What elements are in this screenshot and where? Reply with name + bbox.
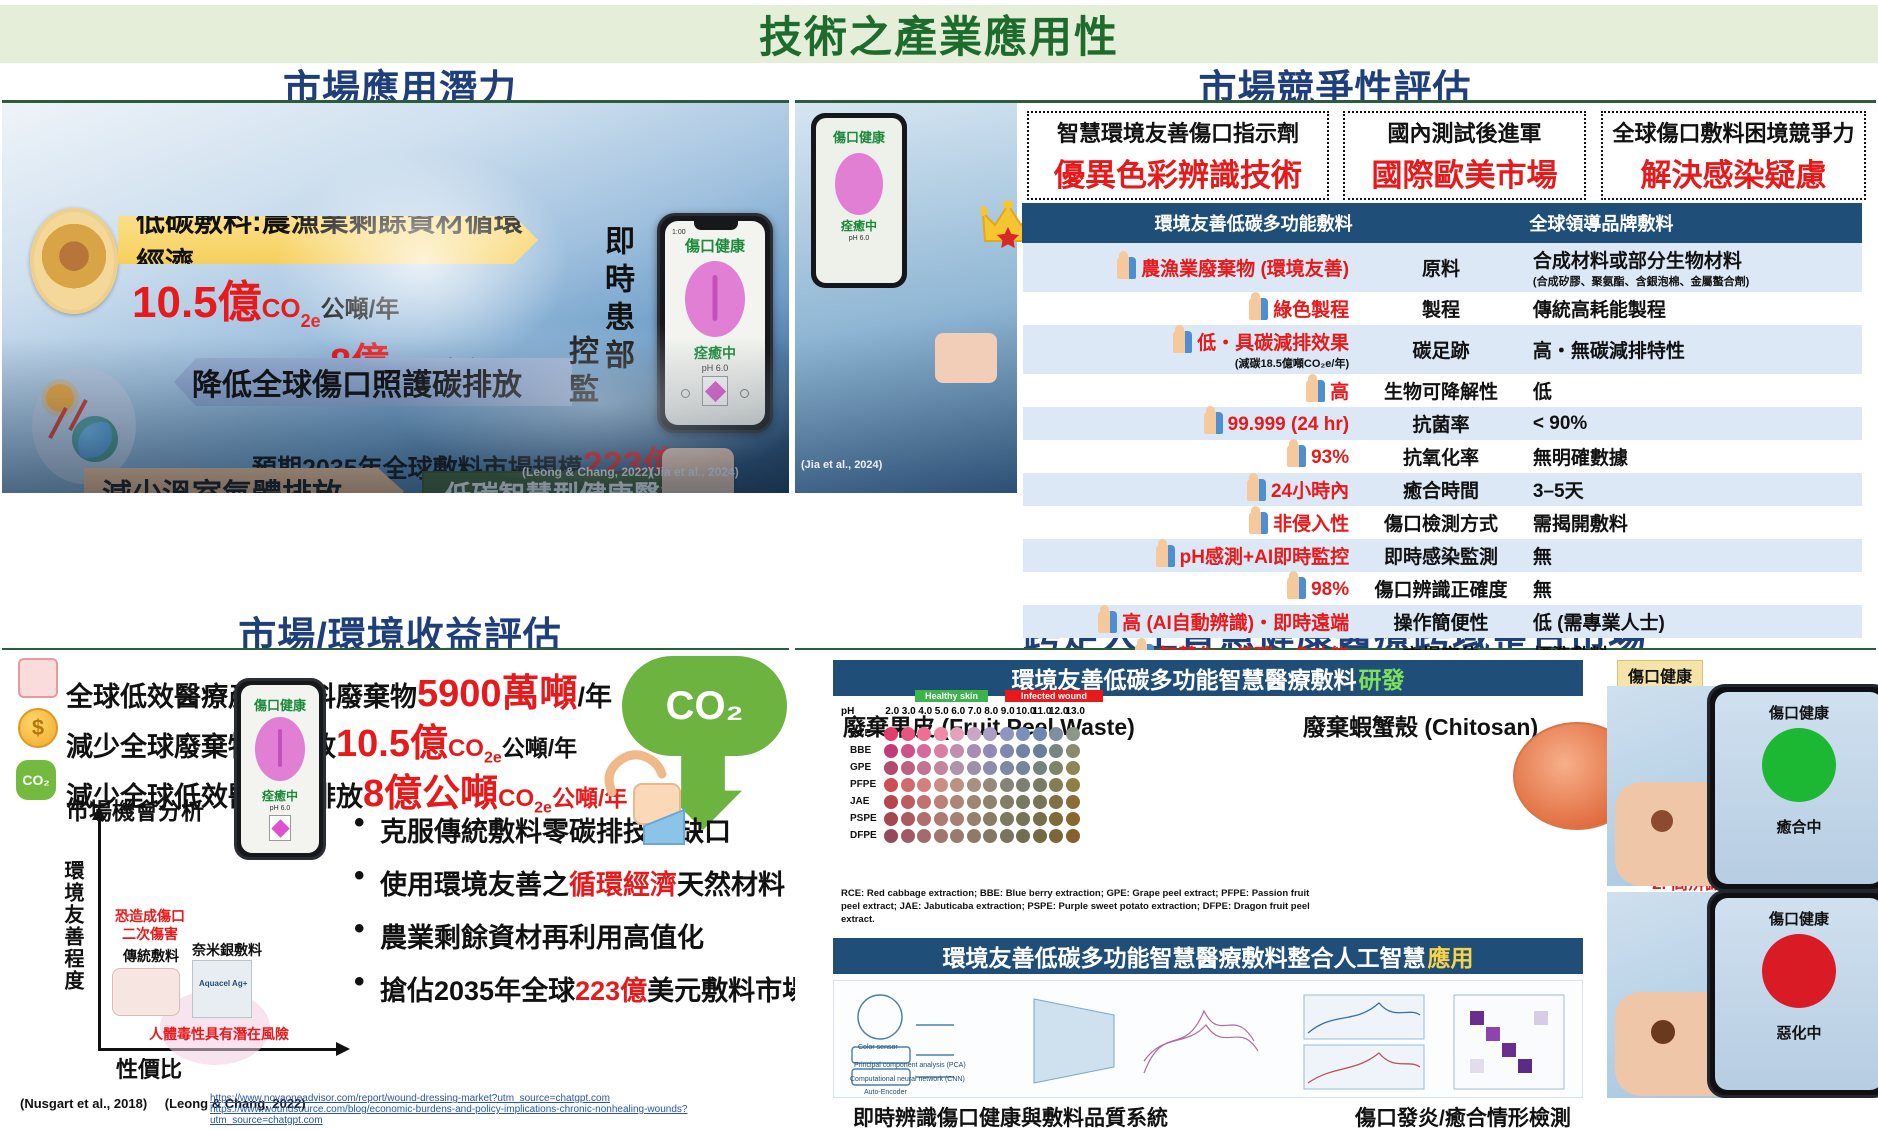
cell-ours: pH感測+AI即時監控 bbox=[1023, 539, 1358, 572]
cell-attribute: 操作簡便性 bbox=[1357, 605, 1525, 638]
th-them: 全球領導品牌敷料 bbox=[1525, 204, 1862, 243]
matrix-row: PFPE bbox=[850, 776, 1082, 793]
color-dot bbox=[901, 812, 915, 826]
wound-app-phone-small[interactable]: 傷口健康 痊癒中 pH 6.0 bbox=[234, 678, 326, 860]
ph-readout-small: pH 6.0 bbox=[241, 805, 319, 812]
status-circle-red bbox=[1762, 934, 1836, 1008]
cell-attribute: 抗菌率 bbox=[1357, 407, 1525, 440]
food-waste-bowl-icon bbox=[30, 208, 118, 314]
co2-icon: CO₂ bbox=[16, 760, 56, 800]
ph-tick: 4.0 bbox=[917, 706, 934, 717]
comparison-table: 環境友善低碳多功能敷料 全球領導品牌敷料 農漁業廢棄物 (環境友善)原料合成材料… bbox=[1022, 203, 1862, 671]
globe-icon bbox=[72, 416, 118, 462]
cell-competitor: 低 bbox=[1525, 374, 1862, 407]
thumbs-up-icon bbox=[1247, 479, 1266, 501]
kpi-card-infection: 全球傷口敷料困境競爭力 解決感染疑慮 bbox=[1601, 111, 1866, 200]
poster-root: 技術之產業應用性 市場應用潛力 市場競爭性評估 市場/環境收益評估 跨足人工智慧… bbox=[0, 0, 1878, 1125]
table-row: 低・具碳減排效果(減碳18.5億噸CO₂e/年)碳足跡高・無碳減排特性 bbox=[1023, 325, 1862, 374]
market-competition-panel: 傷口健康 痊癒中 pH 6.0 (Jia et al., 2024) 智慧環境友… bbox=[795, 103, 1876, 493]
matrix-row-label: JAE bbox=[850, 796, 884, 807]
benefit-line-1: 全球低效醫療產生敷料廢棄物5900萬噸/年 bbox=[66, 662, 612, 717]
color-dot bbox=[1066, 812, 1080, 826]
color-dot bbox=[1033, 761, 1047, 775]
color-dot bbox=[1000, 744, 1014, 758]
thumbs-up-icon bbox=[1204, 412, 1223, 434]
phone-screen: 1:00 傷口健康 痊癒中 pH 6.0 bbox=[665, 221, 765, 425]
color-dot bbox=[983, 727, 997, 741]
traditional-dressing-image bbox=[112, 968, 180, 1016]
color-dot bbox=[884, 778, 898, 792]
matrix-row: GPE bbox=[850, 759, 1082, 776]
cell-competitor: 3–5天 bbox=[1525, 473, 1862, 506]
color-dot bbox=[934, 761, 948, 775]
cell-attribute: 生物可降解性 bbox=[1357, 374, 1525, 407]
color-dot bbox=[934, 829, 948, 843]
color-dot bbox=[1016, 761, 1030, 775]
cell-ours: 農漁業廢棄物 (環境友善) bbox=[1023, 243, 1358, 293]
coin-icon: $ bbox=[18, 708, 58, 748]
color-dot bbox=[1066, 744, 1080, 758]
color-dot bbox=[1016, 744, 1030, 758]
cell-ours: 24小時內 bbox=[1023, 473, 1358, 506]
color-dot bbox=[950, 795, 964, 809]
wound-status-small: 痊癒中 bbox=[241, 787, 319, 804]
color-dot bbox=[1000, 778, 1014, 792]
cell-ours: 非侵入性 bbox=[1023, 506, 1358, 539]
chitosan-title: 廢棄蝦蟹殼 (Chitosan) bbox=[1303, 708, 1538, 742]
ref-url-2[interactable]: https://www.woundsource.com/blog/economi… bbox=[210, 1104, 789, 1126]
list-item: 搶佔2035年全球223億美元敷料市場 bbox=[354, 969, 784, 1008]
color-dot bbox=[967, 812, 981, 826]
svg-text:Principal component analysis (: Principal component analysis (PCA) bbox=[854, 1062, 966, 1069]
color-dot bbox=[1066, 778, 1080, 792]
annotation-toxicity-risk: 人體毒性具有潛在風險 bbox=[124, 1026, 314, 1044]
color-dot bbox=[1000, 829, 1014, 843]
annotation-nano-silver: 奈米銀敷料 bbox=[184, 940, 270, 960]
thumbnail-ph: pH 6.0 bbox=[811, 235, 907, 242]
color-dot bbox=[1033, 744, 1047, 758]
color-dot bbox=[950, 727, 964, 741]
phone-screen-worsening: 傷口健康 惡化中 bbox=[1715, 898, 1878, 1090]
color-dot bbox=[1000, 727, 1014, 741]
color-dot bbox=[884, 761, 898, 775]
cell-ours: 低・具碳減排效果(減碳18.5億噸CO₂e/年) bbox=[1023, 325, 1358, 374]
thumbs-up-icon bbox=[1287, 577, 1306, 599]
phone-title-worsening: 傷口健康 bbox=[1715, 908, 1878, 929]
color-dot bbox=[1066, 795, 1080, 809]
color-dot bbox=[983, 795, 997, 809]
table-row: 99.999 (24 hr)抗菌率< 90% bbox=[1023, 407, 1862, 440]
ai-pipeline-diagram: Color sensor Principal component analysi… bbox=[833, 980, 1583, 1098]
ph-axis-label: pH bbox=[841, 706, 854, 717]
ph-tick-labels: 2.03.04.05.06.07.08.09.010.011.012.013.0 bbox=[884, 706, 1082, 717]
phone-notch bbox=[694, 221, 738, 230]
list-item: 農業剩餘資材再利用高值化 bbox=[354, 916, 784, 955]
bandage-roll-icon bbox=[18, 658, 58, 698]
thumbnail-citation: (Jia et al., 2024) bbox=[801, 459, 882, 471]
nano-silver-dressing-image: Aquacel Ag+ bbox=[192, 960, 252, 1018]
thumbs-up-icon bbox=[1249, 512, 1268, 534]
cell-ours: 綠色製程 bbox=[1023, 292, 1358, 325]
cell-ours: 93% bbox=[1023, 440, 1358, 473]
color-dot bbox=[1049, 761, 1063, 775]
color-dot bbox=[884, 744, 898, 758]
color-dot bbox=[917, 778, 931, 792]
color-dot bbox=[917, 795, 931, 809]
matrix-row-label: DFPE bbox=[850, 830, 884, 841]
color-dot bbox=[983, 761, 997, 775]
wound-status: 痊癒中 bbox=[665, 343, 765, 363]
svg-text:Auto-Encoder: Auto-Encoder bbox=[864, 1089, 907, 1096]
color-dot bbox=[1000, 795, 1014, 809]
matrix-row: PSPE bbox=[850, 810, 1082, 827]
table-row: 綠色製程製程傳統高耗能製程 bbox=[1023, 292, 1862, 325]
app-title-small: 傷口健康 bbox=[241, 695, 319, 714]
citation-jia: (Jia et al., 2024) bbox=[650, 465, 739, 479]
color-dot bbox=[901, 744, 915, 758]
cell-competitor: 高・無碳減排特性 bbox=[1525, 325, 1862, 374]
svg-text:Color sensor: Color sensor bbox=[858, 1044, 898, 1051]
color-dot bbox=[967, 744, 981, 758]
color-dot bbox=[950, 829, 964, 843]
phone-worsening[interactable]: 傷口健康 惡化中 bbox=[1707, 890, 1878, 1098]
thumbnail-pad-icon bbox=[935, 333, 997, 383]
ph-tick: 5.0 bbox=[934, 706, 951, 717]
matrix-row-label: PFPE bbox=[850, 779, 884, 790]
color-dot bbox=[1049, 727, 1063, 741]
matrix-row: BBE bbox=[850, 742, 1082, 759]
thumbs-up-icon bbox=[1156, 545, 1175, 567]
ph-tick: 2.0 bbox=[884, 706, 901, 717]
wound-image-small bbox=[255, 717, 305, 781]
y-axis-label: 環境友善程度 bbox=[58, 860, 87, 992]
color-dot bbox=[934, 744, 948, 758]
ai-integration-panel: 環境友善低碳多功能智慧醫療敷料研發 廢棄果皮 (Fruit Peel Waste… bbox=[795, 650, 1876, 1123]
color-dot bbox=[884, 829, 898, 843]
ph-tick: 7.0 bbox=[967, 706, 984, 717]
citation-leong: (Leong & Chang, 2022) bbox=[522, 465, 652, 479]
color-dot bbox=[1049, 744, 1063, 758]
page-title: 技術之產業應用性 bbox=[759, 3, 1119, 65]
references: (Nusgart et al., 2018) (Leong & Chang, 2… bbox=[20, 1096, 789, 1126]
kpi-card-market: 國內測試後進軍 國際歐美市場 bbox=[1343, 111, 1586, 200]
status-circle-green bbox=[1762, 728, 1836, 802]
color-dot bbox=[901, 761, 915, 775]
cell-competitor: < 90% bbox=[1525, 407, 1862, 440]
ph-color-matrix: RCEBBEGPEPFPEJAEPSPEDFPE bbox=[850, 725, 1082, 844]
table-row: 農漁業廢棄物 (環境友善)原料合成材料或部分生物材料(合成矽膠、聚氨酯、含銀泡棉… bbox=[1023, 243, 1862, 293]
color-dot bbox=[1016, 812, 1030, 826]
phone-status-healing: 癒合中 bbox=[1715, 816, 1878, 837]
cell-competitor: 傳統高耗能製程 bbox=[1525, 292, 1862, 325]
color-dot bbox=[983, 778, 997, 792]
table-row: 98%傷口辨識正確度無 bbox=[1023, 572, 1862, 605]
color-dot bbox=[917, 761, 931, 775]
cell-attribute: 傷口檢測方式 bbox=[1357, 506, 1525, 539]
color-dot bbox=[1066, 727, 1080, 741]
table-row: pH感測+AI即時監控即時感染監測無 bbox=[1023, 539, 1862, 572]
wound-spot bbox=[1651, 810, 1673, 832]
kpi-card-indicator: 智慧環境友善傷口指示劑 優異色彩辨識技術 bbox=[1027, 111, 1329, 200]
color-dot bbox=[950, 744, 964, 758]
cell-ours: 高 bbox=[1023, 374, 1358, 407]
color-dot bbox=[884, 795, 898, 809]
ph-tick: 11.0 bbox=[1033, 706, 1050, 717]
thumbs-up-icon bbox=[1117, 257, 1136, 279]
greenhouse-earth-icon bbox=[32, 368, 136, 484]
stat-co2-1: 10.5億CO2e公噸/年 bbox=[132, 266, 399, 332]
table-row: 93%抗氧化率無明確數據 bbox=[1023, 440, 1862, 473]
ph-chip-icon-small bbox=[269, 815, 291, 841]
color-dot bbox=[1049, 778, 1063, 792]
color-dot bbox=[934, 812, 948, 826]
flow-caption-left: 即時辨識傷口健康與敷料品質系統 bbox=[853, 1102, 1168, 1132]
color-dot bbox=[884, 727, 898, 741]
nav-dot-right-icon[interactable] bbox=[740, 389, 749, 398]
color-dot bbox=[901, 829, 915, 843]
color-dot bbox=[1066, 761, 1080, 775]
color-dot bbox=[1033, 795, 1047, 809]
table-header-row: 環境友善低碳多功能敷料 全球領導品牌敷料 bbox=[1023, 204, 1862, 243]
color-dot bbox=[1016, 795, 1030, 809]
color-dot bbox=[1033, 727, 1047, 741]
extraction-footnote: RCE: Red cabbage extraction; BBE: Blue b… bbox=[841, 888, 1311, 926]
color-dot bbox=[967, 761, 981, 775]
app-title: 傷口健康 bbox=[665, 235, 765, 256]
ph-readout: pH 6.0 bbox=[665, 363, 765, 373]
cell-attribute: 癒合時間 bbox=[1357, 473, 1525, 506]
color-dot bbox=[934, 795, 948, 809]
color-dot bbox=[1033, 829, 1047, 843]
color-dot bbox=[1033, 812, 1047, 826]
color-dot bbox=[950, 812, 964, 826]
matrix-row-label: PSPE bbox=[850, 813, 884, 824]
tag-infected-wound: Infected wound bbox=[1005, 690, 1103, 702]
sun-icon bbox=[46, 384, 74, 412]
color-dot bbox=[1049, 795, 1063, 809]
th-attribute bbox=[1357, 204, 1525, 243]
matrix-row: JAE bbox=[850, 793, 1082, 810]
cell-competitor: 無 bbox=[1525, 539, 1862, 572]
table-row: 24小時內癒合時間3–5天 bbox=[1023, 473, 1862, 506]
color-dot bbox=[1016, 778, 1030, 792]
color-dot bbox=[1016, 727, 1030, 741]
table-row: 高 (AI自動辨識)・即時遠端操作簡便性低 (需專業人士) bbox=[1023, 605, 1862, 638]
ph-tick: 8.0 bbox=[983, 706, 1000, 717]
color-dot bbox=[967, 829, 981, 843]
main-title-bar: 技術之產業應用性 bbox=[0, 5, 1878, 63]
ref-1: (Nusgart et al., 2018) bbox=[20, 1096, 147, 1111]
chevron-reduce-ghg: 減少溫室氣體排放 bbox=[84, 468, 404, 493]
color-dot bbox=[950, 778, 964, 792]
color-dot bbox=[1066, 829, 1080, 843]
x-axis-label: 性價比 bbox=[116, 1052, 182, 1084]
cell-competitor: 合成材料或部分生物材料(合成矽膠、聚氨酯、含銀泡棉、金屬螯合劑) bbox=[1525, 243, 1862, 293]
color-dot bbox=[1049, 829, 1063, 843]
table-row: 高生物可降解性低 bbox=[1023, 374, 1862, 407]
cell-competitor: 無明確數據 bbox=[1525, 440, 1862, 473]
color-dot bbox=[917, 744, 931, 758]
th-ours: 環境友善低碳多功能敷料 bbox=[1023, 204, 1358, 243]
color-dot bbox=[917, 727, 931, 741]
cell-ours: 高 (AI自動辨識)・即時遠端 bbox=[1023, 605, 1358, 638]
cell-attribute: 即時感染監測 bbox=[1357, 539, 1525, 572]
phone-status-worsening: 惡化中 bbox=[1715, 1022, 1878, 1043]
color-dot bbox=[1016, 829, 1030, 843]
wound-spot bbox=[1651, 1020, 1675, 1044]
cell-ours: 99.999 (24 hr) bbox=[1023, 407, 1358, 440]
color-dot bbox=[917, 829, 931, 843]
cell-attribute: 抗氧化率 bbox=[1357, 440, 1525, 473]
wound-image bbox=[685, 261, 745, 337]
ph-tick: 9.0 bbox=[1000, 706, 1017, 717]
cell-attribute: 碳足跡 bbox=[1357, 325, 1525, 374]
color-dot bbox=[1000, 812, 1014, 826]
market-benefit-panel: 全球低效醫療產生敷料廢棄物5900萬噸/年 $ 減少全球廢棄物碳排放10.5億C… bbox=[2, 650, 789, 1123]
ref-url-1[interactable]: https://www.novaoneadvisor.com/report/wo… bbox=[210, 1093, 789, 1104]
ph-tick: 12.0 bbox=[1049, 706, 1066, 717]
matrix-row-label: RCE bbox=[850, 728, 884, 739]
color-dot bbox=[950, 761, 964, 775]
thumbs-up-icon bbox=[1287, 445, 1306, 467]
thumbs-up-icon bbox=[1249, 298, 1268, 320]
matrix-row: DFPE bbox=[850, 827, 1082, 844]
market-potential-panel: 低碳敷料:農漁業剩餘資材循環經濟 10.5億CO2e公噸/年 8億CO2e噸/年… bbox=[2, 103, 789, 493]
matrix-row-label: BBE bbox=[850, 745, 884, 756]
cell-attribute: 製程 bbox=[1357, 292, 1525, 325]
tag-healthy-skin: Healthy skin bbox=[915, 690, 988, 702]
thumbnail-app-title: 傷口健康 bbox=[811, 127, 907, 146]
color-dot bbox=[967, 778, 981, 792]
list-item: 使用環境友善之循環經濟天然材料 bbox=[354, 863, 784, 902]
color-dot bbox=[901, 727, 915, 741]
cell-ours: 98% bbox=[1023, 572, 1358, 605]
color-dot bbox=[983, 812, 997, 826]
flow-caption-right: 傷口發炎/癒合情形檢測 bbox=[1355, 1102, 1571, 1132]
color-dot bbox=[934, 778, 948, 792]
color-dot bbox=[1000, 761, 1014, 775]
svg-text:Computational neural network (: Computational neural network (CNN) bbox=[850, 1076, 965, 1083]
ph-tick: 13.0 bbox=[1066, 706, 1083, 717]
matrix-row: RCE bbox=[850, 725, 1082, 742]
color-dot bbox=[967, 795, 981, 809]
vertical-label-monitoring: 控監 bbox=[558, 335, 602, 411]
chart-title: 市場機會分析 bbox=[66, 792, 204, 826]
color-dot bbox=[967, 727, 981, 741]
ph-tick: 6.0 bbox=[950, 706, 967, 717]
demo-photo-worsening: 傷口健康 惡化中 bbox=[1607, 892, 1875, 1098]
phone-screen-small: 傷口健康 痊癒中 pH 6.0 bbox=[241, 685, 319, 853]
cell-attribute: 原料 bbox=[1357, 243, 1525, 293]
matrix-row-label: GPE bbox=[850, 762, 884, 773]
panel-background-image: 傷口健康 痊癒中 pH 6.0 (Jia et al., 2024) bbox=[795, 103, 1017, 493]
list-item: 克服傳統敷料零碳排技術缺口 bbox=[354, 810, 784, 849]
chevron-reduce-wound-carbon: 降低全球傷口照護碳排放 bbox=[174, 358, 572, 406]
phone-title-healing: 傷口健康 bbox=[1715, 702, 1878, 723]
cell-competitor: 需揭開敷料 bbox=[1525, 506, 1862, 539]
color-dot bbox=[1049, 812, 1063, 826]
color-dot bbox=[983, 744, 997, 758]
cell-competitor: 低 (需專業人士) bbox=[1525, 605, 1862, 638]
ph-tick: 10.0 bbox=[1016, 706, 1033, 717]
color-dot bbox=[901, 795, 915, 809]
phone-healing[interactable]: 傷口健康 癒合中 bbox=[1707, 684, 1878, 892]
thumbs-up-icon bbox=[1306, 380, 1325, 402]
demo-photo-healing: 傷口健康 癒合中 bbox=[1607, 686, 1875, 886]
color-dot bbox=[983, 829, 997, 843]
nav-dot-left-icon[interactable] bbox=[681, 389, 690, 398]
wound-app-phone-mock[interactable]: 1:00 傷口健康 痊癒中 pH 6.0 bbox=[657, 213, 773, 433]
y-axis bbox=[98, 818, 101, 1048]
cell-attribute: 傷口辨識正確度 bbox=[1357, 572, 1525, 605]
phone-screen-healing: 傷口健康 癒合中 bbox=[1715, 692, 1878, 884]
ph-tick: 3.0 bbox=[901, 706, 918, 717]
annotation-secondary-injury: 恐造成傷口 二次傷害 bbox=[102, 908, 198, 943]
ph-sensor-chip-icon bbox=[702, 376, 728, 406]
chevron-circular-economy: 低碳敷料:農漁業剩餘資材循環經濟 bbox=[118, 216, 538, 264]
color-dot bbox=[901, 778, 915, 792]
thumbs-up-icon bbox=[1098, 611, 1117, 633]
color-dot bbox=[884, 812, 898, 826]
color-dot bbox=[934, 727, 948, 741]
thumbnail-phone: 傷口健康 痊癒中 pH 6.0 bbox=[811, 113, 907, 288]
band-application: 環境友善低碳多功能智慧醫療敷料整合人工智慧應用 bbox=[833, 938, 1583, 974]
annotation-traditional: 傳統敷料 bbox=[106, 946, 196, 966]
thumbs-up-icon bbox=[1173, 331, 1192, 353]
thumbs-up-hand-icon bbox=[592, 740, 702, 850]
color-dot bbox=[1033, 778, 1047, 792]
thumbnail-status: 痊癒中 bbox=[811, 217, 907, 234]
table-row: 非侵入性傷口檢測方式需揭開敷料 bbox=[1023, 506, 1862, 539]
benefit-bullet-list: 克服傳統敷料零碳排技術缺口 使用環境友善之循環經濟天然材料 農業剩餘資材再利用高… bbox=[354, 810, 784, 1022]
cell-competitor: 無 bbox=[1525, 572, 1862, 605]
color-dot bbox=[917, 812, 931, 826]
